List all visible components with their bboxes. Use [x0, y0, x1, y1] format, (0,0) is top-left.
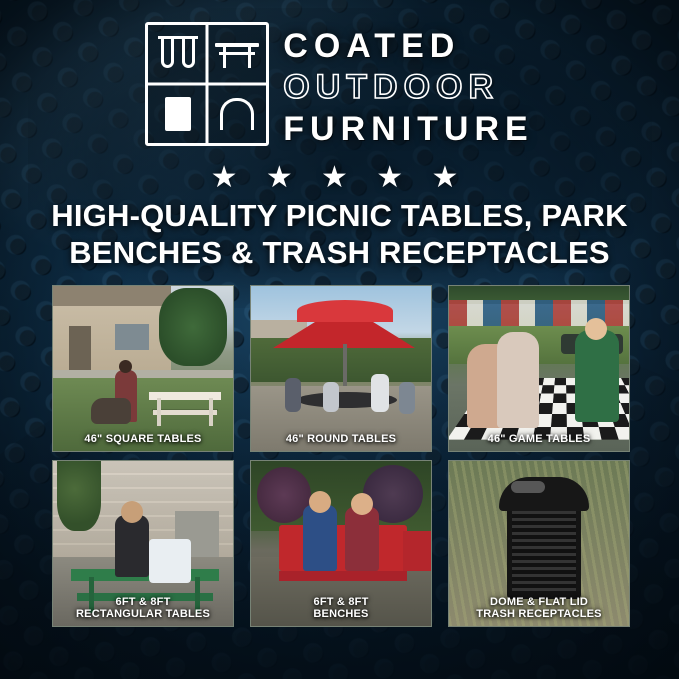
logo-line-1: COATED [283, 26, 533, 67]
caption-line-1: 6FT & 8FT [253, 596, 429, 609]
caption-line-1: 46" ROUND TABLES [253, 433, 429, 446]
logo-line-2: OUTDOOR [283, 67, 533, 108]
picnic-table-icon [148, 25, 207, 84]
product-caption: 6FT & 8FT BENCHES [251, 593, 431, 626]
logo-mark [145, 22, 269, 146]
star-rating: ★ ★ ★ ★ ★ [0, 160, 679, 195]
product-card-square-tables[interactable]: 46" SQUARE TABLES [52, 285, 234, 452]
product-caption: 46" SQUARE TABLES [53, 430, 233, 451]
caption-line-2: RECTANGULAR TABLES [55, 608, 231, 621]
photo-game-tables [449, 286, 629, 451]
logo-wordmark: COATED OUTDOOR FURNITURE [283, 22, 533, 150]
headline: HIGH-QUALITY PICNIC TABLES, PARK BENCHES… [34, 198, 645, 271]
headline-line-1: HIGH-QUALITY PICNIC TABLES, PARK [34, 198, 645, 235]
product-card-trash-receptacles[interactable]: DOME & FLAT LID TRASH RECEPTACLES [448, 460, 630, 627]
headline-line-2: BENCHES & TRASH RECEPTACLES [34, 235, 645, 272]
bench-icon [207, 25, 266, 84]
caption-line-2: BENCHES [253, 608, 429, 621]
product-card-round-tables[interactable]: 46" ROUND TABLES [250, 285, 432, 452]
caption-line-1: 46" SQUARE TABLES [55, 433, 231, 446]
product-caption: 6FT & 8FT RECTANGULAR TABLES [53, 593, 233, 626]
product-grid: 46" SQUARE TABLES 46" ROUND TABLES [52, 285, 628, 627]
product-card-benches[interactable]: 6FT & 8FT BENCHES [250, 460, 432, 627]
product-caption: 46" GAME TABLES [449, 430, 629, 451]
caption-line-1: 46" GAME TABLES [451, 433, 627, 446]
dome-lid-icon [207, 84, 266, 143]
product-card-rectangular-tables[interactable]: 6FT & 8FT RECTANGULAR TABLES [52, 460, 234, 627]
photo-round-tables [251, 286, 431, 451]
trash-receptacle-icon [148, 84, 207, 143]
brand-logo: COATED OUTDOOR FURNITURE [0, 22, 679, 150]
caption-line-2: TRASH RECEPTACLES [451, 608, 627, 621]
product-card-game-tables[interactable]: 46" GAME TABLES [448, 285, 630, 452]
caption-line-1: 6FT & 8FT [55, 596, 231, 609]
photo-square-tables [53, 286, 233, 451]
product-caption: 46" ROUND TABLES [251, 430, 431, 451]
logo-line-3: FURNITURE [283, 109, 533, 150]
advertisement-banner: COATED OUTDOOR FURNITURE ★ ★ ★ ★ ★ HIGH-… [0, 0, 679, 679]
product-caption: DOME & FLAT LID TRASH RECEPTACLES [449, 593, 629, 626]
caption-line-1: DOME & FLAT LID [451, 596, 627, 609]
